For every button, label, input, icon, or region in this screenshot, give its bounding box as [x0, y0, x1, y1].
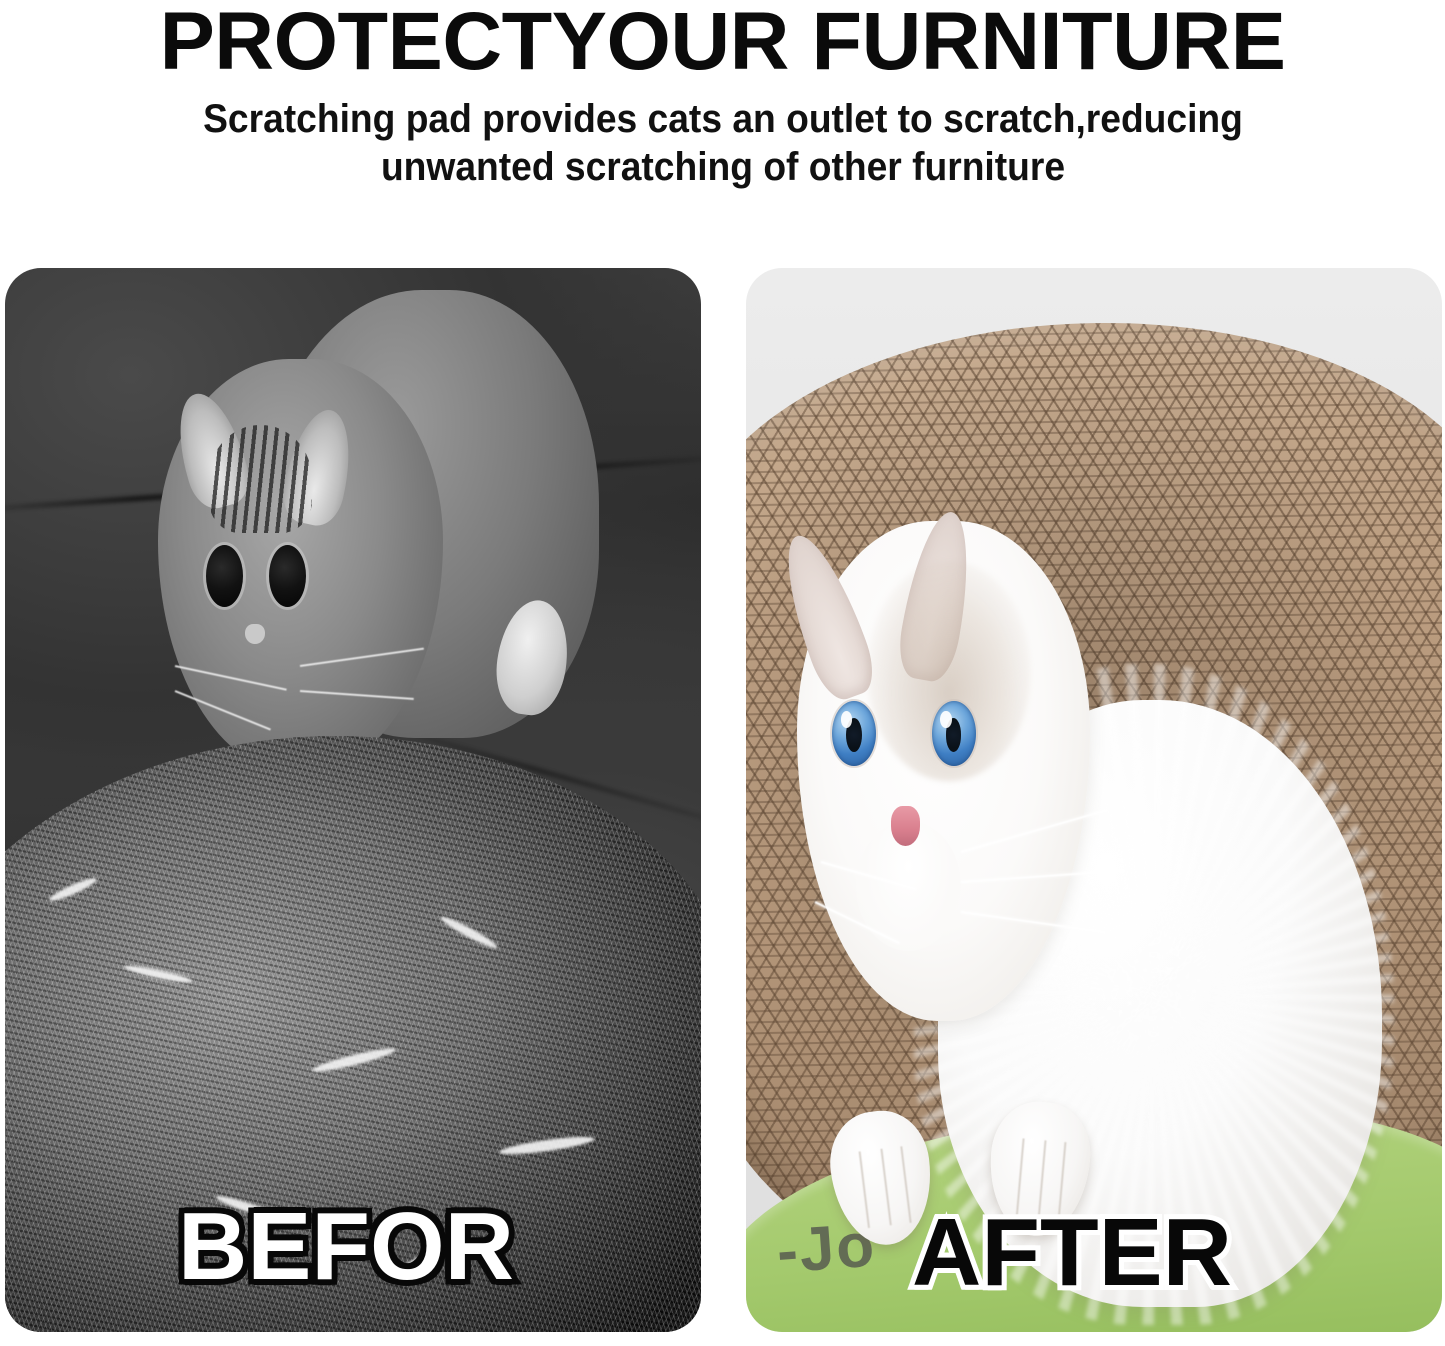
cat-nose	[245, 624, 265, 645]
cat-eye-left	[832, 701, 876, 766]
cat-whisker	[175, 665, 287, 691]
cat-eye-right	[269, 545, 306, 607]
cat-toe-line	[880, 1148, 891, 1225]
after-panel: -Jo	[746, 268, 1442, 1332]
before-after-comparison: -Jo	[0, 268, 1445, 1334]
subtitle-line-1: Scratching pad provides cats an outlet t…	[123, 96, 1323, 143]
cat-ear-left	[770, 526, 883, 706]
cat-forehead-stripes	[209, 425, 312, 533]
cat-whisker	[300, 690, 414, 700]
cat-toe-line	[900, 1146, 911, 1223]
cat-eye-left	[206, 545, 243, 607]
eye-glint	[841, 711, 852, 728]
cat-toe-line	[859, 1151, 870, 1228]
eye-glint	[940, 711, 951, 728]
after-label: AFTER	[912, 1205, 1232, 1301]
cat-whisker	[300, 648, 424, 667]
before-panel	[5, 268, 701, 1332]
cat-nose	[891, 806, 920, 846]
white-ragdoll-cat	[774, 396, 1359, 1290]
cat-eye-right	[932, 701, 976, 766]
subtitle-line-2: unwanted scratching of other furniture	[123, 144, 1323, 191]
cat-whisker	[175, 690, 271, 730]
header-block: PROTECTYOUR FURNITURE Scratching pad pro…	[0, 0, 1445, 191]
before-label: BEFOR	[178, 1199, 514, 1295]
page-subtitle: Scratching pad provides cats an outlet t…	[123, 96, 1323, 190]
page-title: PROTECTYOUR FURNITURE	[0, 2, 1445, 82]
